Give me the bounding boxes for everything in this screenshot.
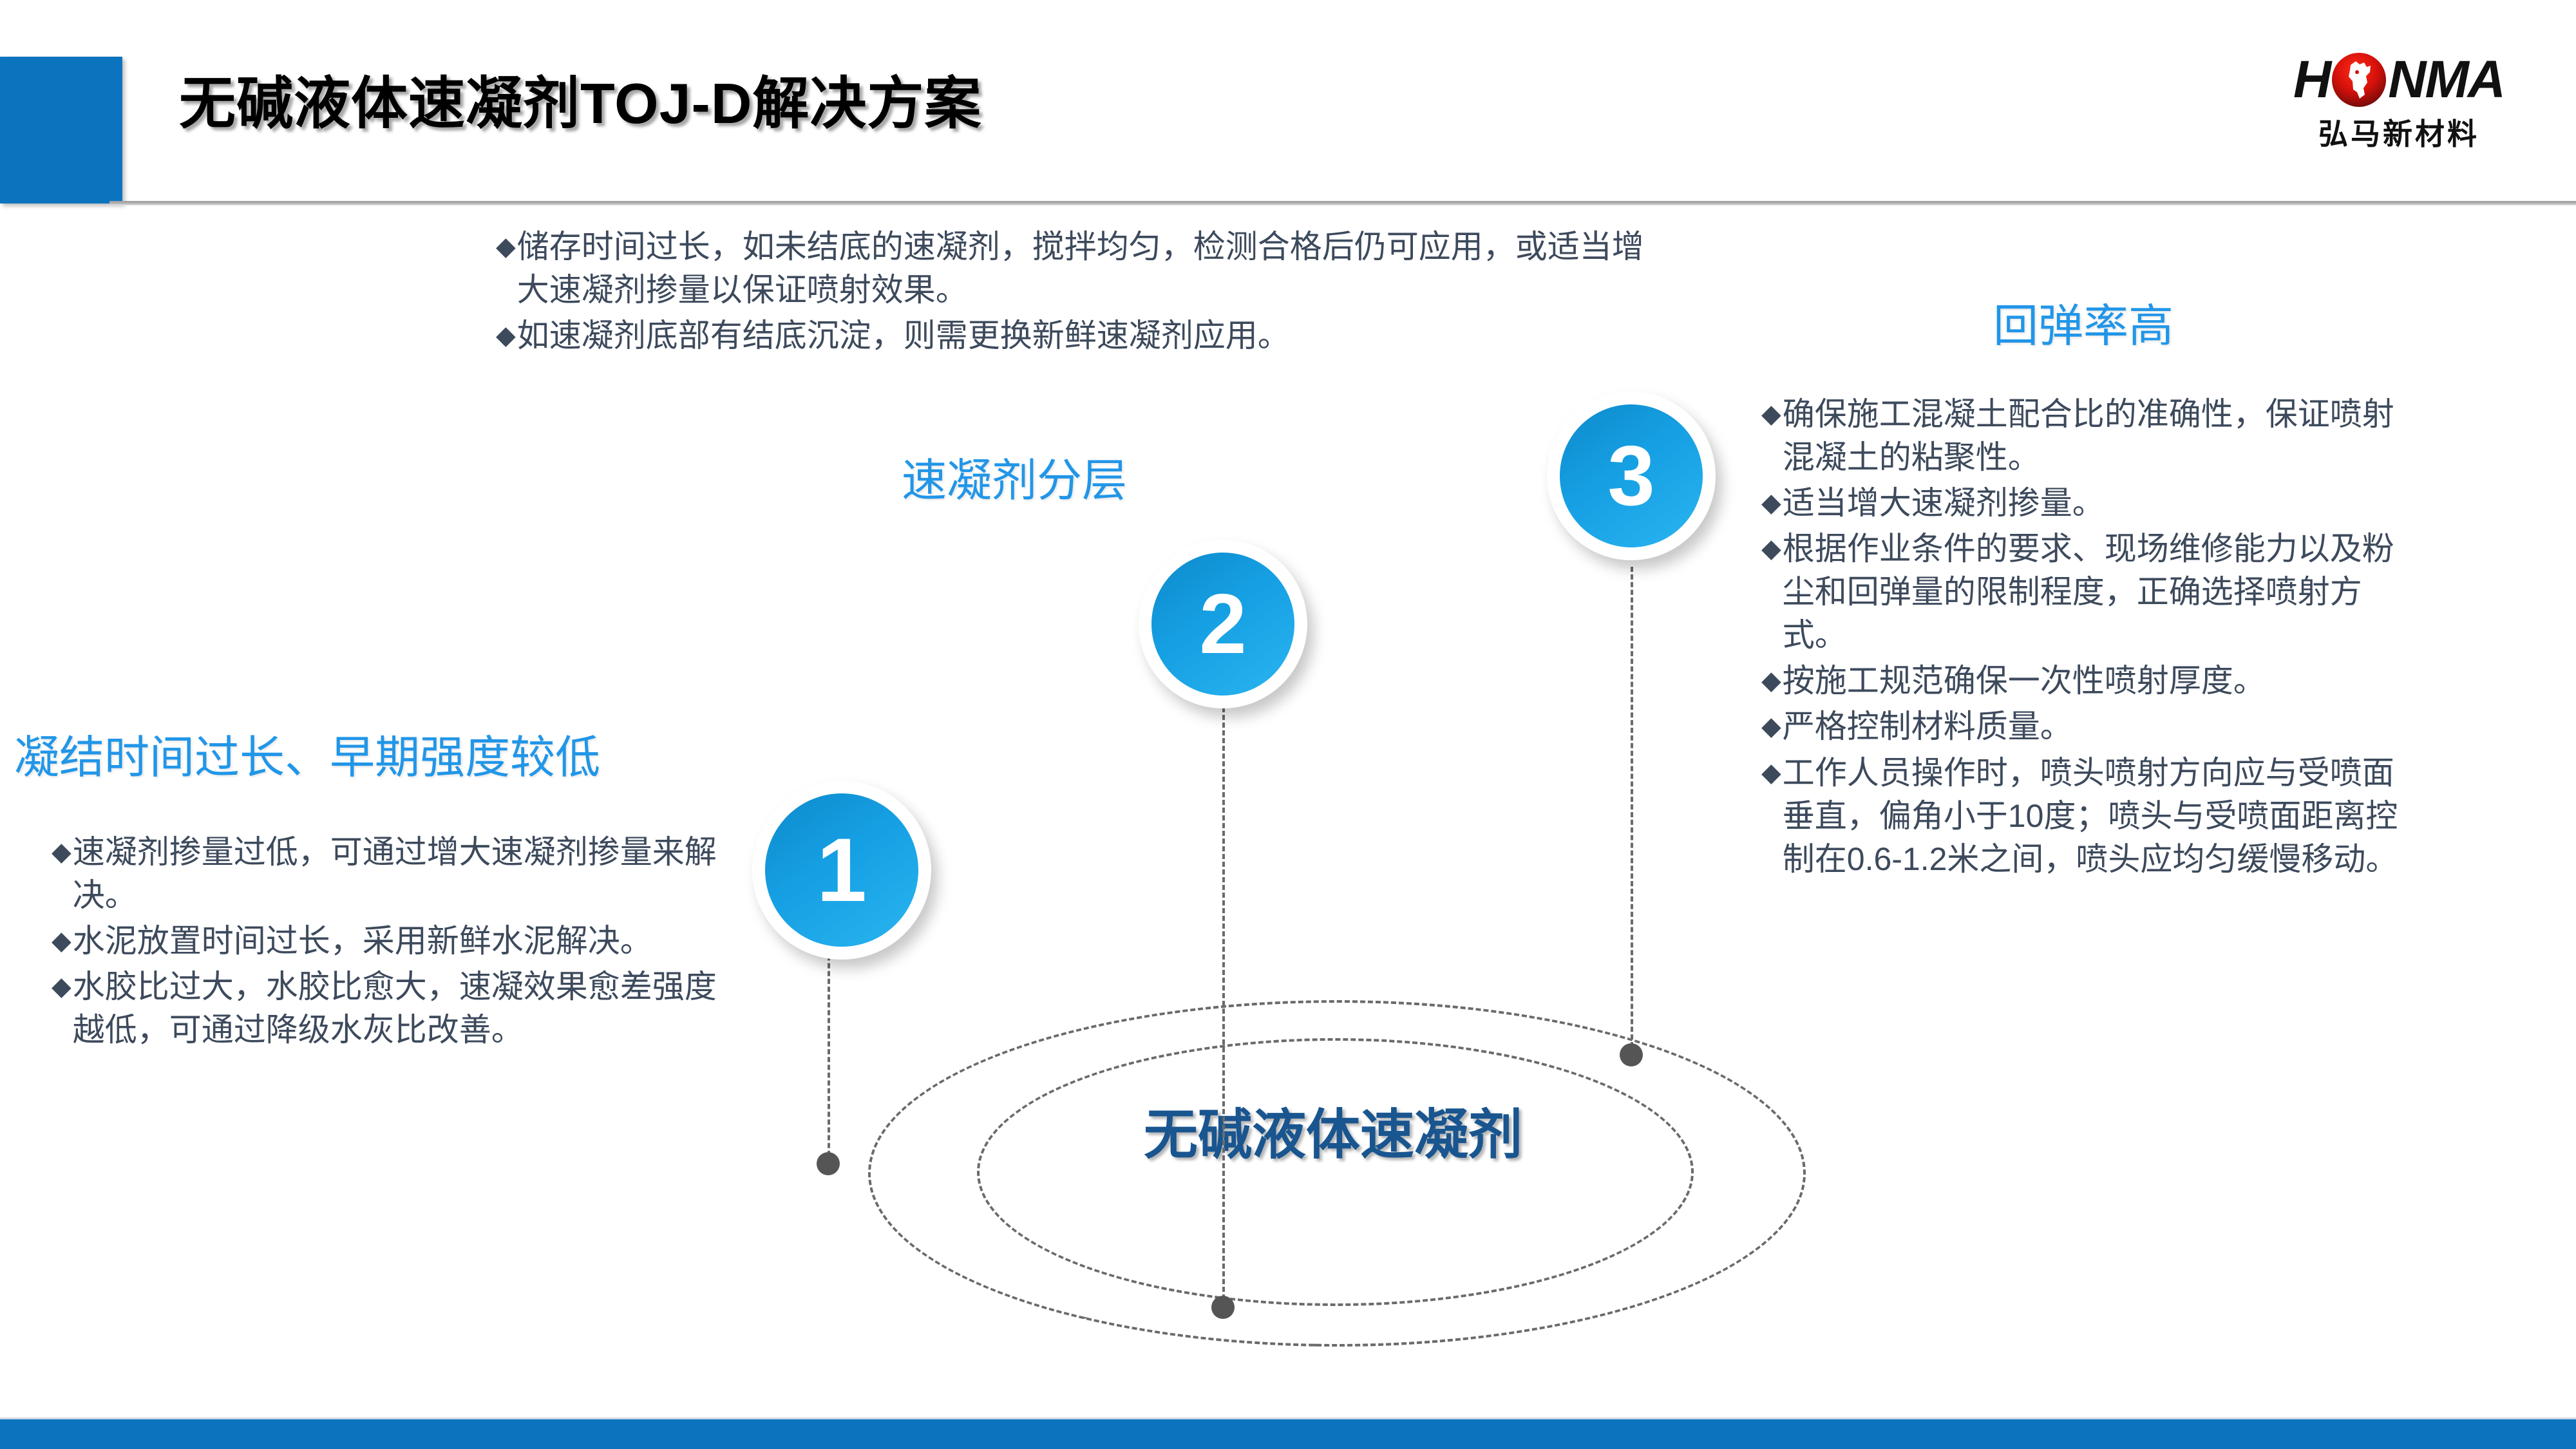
bullet-text: 如速凝剂底部有结底沉淀，则需更换新鲜速凝剂应用。 [517,314,1649,357]
inner-dashed-ellipse [977,1038,1694,1306]
bullet-text: 工作人员操作时，喷头喷射方向应与受喷面垂直，偏角小于10度；喷头与受喷面距离控制… [1783,752,2418,881]
bullet-text: 确保施工混凝土配合比的准确性，保证喷射混凝土的粘聚性。 [1783,393,2418,479]
logo-letters-nma: NMA [2388,53,2505,106]
bullet-item: ◆ 工作人员操作时，喷头喷射方向应与受喷面垂直，偏角小于10度；喷头与受喷面距离… [1761,752,2418,881]
number-badge-1-disc: 1 [765,793,918,947]
bullet-text: 适当增大速凝剂掺量。 [1783,482,2418,525]
diamond-bullet-icon: ◆ [1761,527,1781,571]
bullet-item: ◆ 水泥放置时间过长，采用新鲜水泥解决。 [52,920,728,963]
number-badge-3[interactable]: 3 [1547,392,1716,560]
diamond-bullet-icon: ◆ [496,314,516,357]
connector-line-3 [1631,567,1633,1055]
bullet-item: ◆ 根据作业条件的要求、现场维修能力以及粉尘和回弹量的限制程度，正确选择喷射方式… [1761,527,2418,657]
number-badge-1[interactable]: 1 [752,781,931,960]
bullet-text: 严格控制材料质量。 [1783,705,2418,748]
logo-letter-h: H [2293,53,2330,106]
center-product-label: 无碱液体速凝剂 [1027,1092,1639,1170]
logo-chinese-name: 弘马新材料 [2260,111,2537,153]
connector-dot-1 [817,1152,840,1175]
page-title: 无碱液体速凝剂TOJ-D解决方案 [179,58,981,140]
connector-dot-2 [1211,1296,1235,1319]
bullet-text: 水泥放置时间过长，采用新鲜水泥解决。 [73,920,728,963]
bullet-block-left: ◆ 速凝剂掺量过低，可通过增大速凝剂掺量来解决。 ◆ 水泥放置时间过长，采用新鲜… [52,831,728,1054]
diamond-bullet-icon: ◆ [1761,482,1781,525]
bullet-item: ◆ 按施工规范确保一次性喷射厚度。 [1761,659,2418,703]
number-badge-1-label: 1 [817,825,867,915]
diamond-bullet-icon: ◆ [1761,752,1781,795]
number-badge-2-disc: 2 [1151,553,1294,696]
diamond-bullet-icon: ◆ [1761,659,1781,703]
section-heading-right: 回弹率高 [1993,290,2173,355]
bullet-item: ◆ 严格控制材料质量。 [1761,705,2418,748]
bullet-text: 按施工规范确保一次性喷射厚度。 [1783,659,2418,703]
brand-logo: H NMA 弘马新材料 [2260,50,2537,153]
section-heading-left: 凝结时间过长、早期强度较低 [14,721,600,786]
bullet-text: 水胶比过大，水胶比愈大，速凝效果愈差强度越低，可通过降级水灰比改善。 [73,965,728,1052]
bullet-item: ◆ 储存时间过长，如未结底的速凝剂，搅拌均匀，检测合格后仍可应用，或适当增大速凝… [496,225,1649,312]
number-badge-3-label: 3 [1607,433,1654,518]
diamond-bullet-icon: ◆ [52,965,71,1009]
footer-accent-bar [0,1419,2576,1449]
slide-canvas: 无碱液体速凝剂TOJ-D解决方案 H [0,0,2576,1449]
connector-line-1 [828,924,830,1164]
diamond-bullet-icon: ◆ [1761,705,1781,748]
logo-wordmark: H NMA [2260,50,2537,109]
number-badge-2-label: 2 [1199,582,1246,667]
diamond-bullet-icon: ◆ [52,831,71,874]
diamond-bullet-icon: ◆ [496,225,516,269]
number-badge-3-disc: 3 [1560,404,1703,547]
bullet-block-right: ◆ 确保施工混凝土配合比的准确性，保证喷射混凝土的粘聚性。 ◆ 适当增大速凝剂掺… [1761,393,2418,884]
diamond-bullet-icon: ◆ [1761,393,1781,436]
bullet-text: 速凝剂掺量过低，可通过增大速凝剂掺量来解决。 [73,831,728,917]
section-heading-middle: 速凝剂分层 [902,444,1127,509]
connector-line-2 [1222,684,1225,1307]
bullet-item: ◆ 如速凝剂底部有结底沉淀，则需更换新鲜速凝剂应用。 [496,314,1649,357]
bullet-item: ◆ 速凝剂掺量过低，可通过增大速凝剂掺量来解决。 [52,831,728,917]
bullet-text: 储存时间过长，如未结底的速凝剂，搅拌均匀，检测合格后仍可应用，或适当增大速凝剂掺… [517,225,1649,312]
bullet-block-top: ◆ 储存时间过长，如未结底的速凝剂，搅拌均匀，检测合格后仍可应用，或适当增大速凝… [496,225,1649,360]
header-divider-rule [109,201,2576,205]
diamond-bullet-icon: ◆ [52,920,71,963]
number-badge-2[interactable]: 2 [1139,540,1307,708]
bullet-item: ◆ 适当增大速凝剂掺量。 [1761,482,2418,525]
connector-dot-3 [1620,1043,1643,1066]
bullet-item: ◆ 确保施工混凝土配合比的准确性，保证喷射混凝土的粘聚性。 [1761,393,2418,479]
bullet-text: 根据作业条件的要求、现场维修能力以及粉尘和回弹量的限制程度，正确选择喷射方式。 [1783,527,2418,657]
header-accent-block [0,57,122,204]
bullet-item: ◆ 水胶比过大，水胶比愈大，速凝效果愈差强度越低，可通过降级水灰比改善。 [52,965,728,1052]
horse-head-icon [2331,52,2387,108]
